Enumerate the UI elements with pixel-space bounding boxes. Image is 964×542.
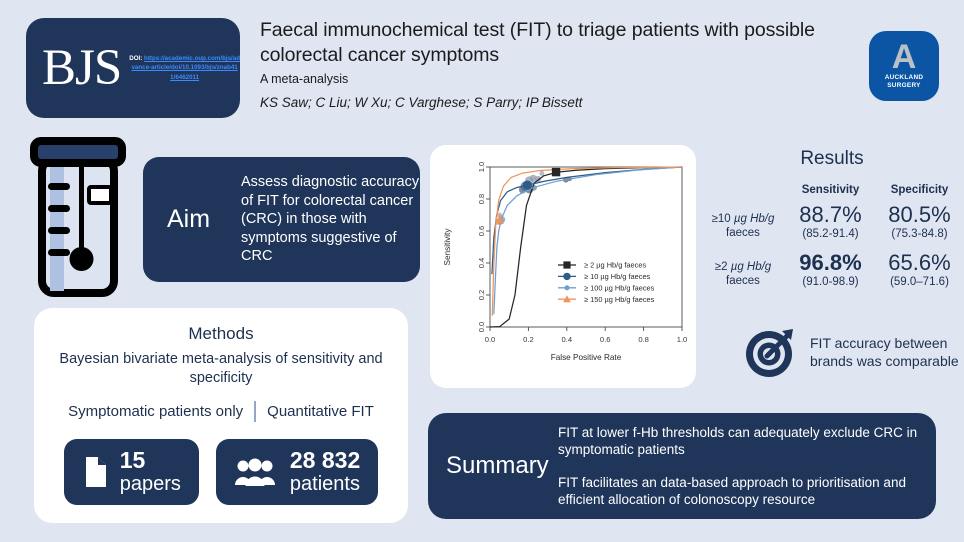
- svg-text:0.0: 0.0: [477, 322, 486, 333]
- poster-root: BJS DOI: https://academic.oup.com/bjs/ad…: [0, 0, 964, 542]
- summary-card: Summary FIT at lower f-Hb thresholds can…: [428, 413, 936, 519]
- auckland-line2: SURGERY: [885, 82, 924, 90]
- svg-text:≥ 10 µg Hb/g faeces: ≥ 10 µg Hb/g faeces: [584, 272, 651, 281]
- svg-text:≥ 150 µg Hb/g faeces: ≥ 150 µg Hb/g faeces: [584, 295, 655, 304]
- results-col-sensitivity: Sensitivity: [786, 183, 875, 202]
- people-icon: [234, 458, 276, 486]
- bjs-wordmark: BJS: [42, 43, 121, 94]
- results-cell-sens-10: 88.7% (85.2-91.4): [786, 202, 875, 250]
- doi-block: DOI: https://academic.oup.com/bjs/advanc…: [129, 54, 240, 82]
- results-cell-sens-2: 96.8% (91.0-98.9): [786, 250, 875, 298]
- row0-spec-ci: (75.3-84.8): [876, 227, 963, 241]
- methods-description: Bayesian bivariate meta-analysis of sens…: [34, 350, 408, 388]
- auckland-logo-text: AUCKLAND SURGERY: [885, 74, 924, 90]
- row0-sens-ci: (85.2-91.4): [787, 227, 874, 241]
- papers-count: 15: [120, 448, 146, 473]
- title-block: Faecal immunochemical test (FIT) to tria…: [260, 18, 850, 110]
- results-row-label-2: ≥2 µg Hb/g faeces: [700, 250, 786, 298]
- row0-unit: µg Hb/g: [734, 213, 775, 225]
- auckland-surgery-logo: A AUCKLAND SURGERY: [869, 31, 939, 101]
- row1-prefix: ≥2: [715, 261, 731, 273]
- paper-authors: KS Saw; C Liu; W Xu; C Varghese; S Parry…: [260, 95, 850, 110]
- aim-card: Aim Assess diagnostic accuracy of FIT fo…: [143, 157, 420, 282]
- svg-text:1.0: 1.0: [677, 335, 688, 344]
- methods-tag-population: Symptomatic patients only: [68, 403, 243, 420]
- row1-spec-ci: (59.0–71.6): [876, 275, 963, 289]
- svg-text:0.0: 0.0: [485, 335, 496, 344]
- paper-subtitle: A meta-analysis: [260, 72, 850, 86]
- results-section: Results Sensitivity Specificity ≥10 µg H…: [700, 148, 964, 298]
- row1-sens-ci: (91.0-98.9): [787, 275, 874, 289]
- summary-point-2: FIT facilitates an data-based approach t…: [558, 474, 936, 509]
- methods-tag-test: Quantitative FIT: [267, 403, 374, 420]
- svg-text:0.8: 0.8: [477, 194, 486, 205]
- aim-text: Assess diagnostic accuracy of FIT for co…: [241, 173, 420, 266]
- svg-text:0.2: 0.2: [477, 290, 486, 301]
- roc-chart-card: 0.00.20.40.60.81.00.00.20.40.60.81.0Fals…: [430, 145, 696, 388]
- results-cell-spec-2: 65.6% (59.0–71.6): [875, 250, 964, 298]
- svg-text:Sensitivity: Sensitivity: [443, 228, 452, 266]
- svg-text:1.0: 1.0: [477, 162, 486, 173]
- row1-unit: µg Hb/g: [731, 261, 772, 273]
- summary-spacer: [558, 459, 936, 474]
- aim-label: Aim: [167, 205, 241, 234]
- patients-label: patients: [290, 473, 360, 496]
- results-corner-cell: [700, 183, 786, 202]
- results-title: Results: [700, 148, 964, 170]
- svg-text:0.4: 0.4: [562, 335, 573, 344]
- stat-chip-papers-text: 15 papers: [120, 448, 181, 496]
- results-cell-spec-10: 80.5% (75.3-84.8): [875, 202, 964, 250]
- svg-text:≥ 2 µg Hb/g faeces: ≥ 2 µg Hb/g faeces: [584, 261, 646, 270]
- patients-count: 28 832: [290, 448, 360, 473]
- row0-suffix: faeces: [726, 227, 760, 239]
- doi-link[interactable]: https://academic.oup.com/bjs/advance-art…: [131, 55, 240, 81]
- paper-title: Faecal immunochemical test (FIT) to tria…: [260, 18, 850, 68]
- svg-text:0.8: 0.8: [638, 335, 649, 344]
- svg-text:False Positive Rate: False Positive Rate: [551, 353, 622, 362]
- specimen-jar-icon: [30, 137, 134, 302]
- papers-label: papers: [120, 473, 181, 496]
- row1-spec-value: 65.6%: [876, 251, 963, 275]
- row1-suffix: faeces: [726, 275, 760, 287]
- poster-header: BJS DOI: https://academic.oup.com/bjs/ad…: [0, 0, 964, 128]
- table-row: ≥10 µg Hb/g faeces 88.7% (85.2-91.4) 80.…: [700, 202, 964, 250]
- methods-tag-divider: [254, 401, 256, 422]
- row0-sens-value: 88.7%: [787, 203, 874, 227]
- aim-section: Aim Assess diagnostic accuracy of FIT fo…: [30, 137, 420, 302]
- svg-text:0.2: 0.2: [523, 335, 534, 344]
- target-icon: [744, 325, 798, 379]
- summary-point-1: FIT at lower f-Hb thresholds can adequat…: [558, 424, 936, 459]
- methods-title: Methods: [34, 324, 408, 344]
- methods-card: Methods Bayesian bivariate meta-analysis…: [34, 308, 408, 523]
- methods-tags: Symptomatic patients only Quantitative F…: [34, 401, 408, 422]
- results-row-label-10: ≥10 µg Hb/g faeces: [700, 202, 786, 250]
- journal-logo-card: BJS DOI: https://academic.oup.com/bjs/ad…: [26, 18, 240, 118]
- accuracy-note-text: FIT accuracy between brands was comparab…: [810, 334, 964, 370]
- results-col-specificity: Specificity: [875, 183, 964, 202]
- svg-text:0.6: 0.6: [477, 226, 486, 237]
- auckland-a-glyph: A: [892, 42, 917, 72]
- row1-sens-value: 96.8%: [787, 251, 874, 275]
- row0-prefix: ≥10: [712, 213, 734, 225]
- results-header-row: Sensitivity Specificity: [700, 183, 964, 202]
- stat-chip-patients: 28 832 patients: [216, 439, 378, 505]
- svg-text:0.6: 0.6: [600, 335, 611, 344]
- document-icon: [82, 457, 106, 487]
- svg-text:0.4: 0.4: [477, 258, 486, 269]
- summary-label: Summary: [446, 452, 558, 480]
- stat-chip-patients-text: 28 832 patients: [290, 448, 360, 496]
- row0-spec-value: 80.5%: [876, 203, 963, 227]
- table-row: ≥2 µg Hb/g faeces 96.8% (91.0-98.9) 65.6…: [700, 250, 964, 298]
- methods-stat-chips: 15 papers 28 832 patients: [34, 439, 408, 505]
- roc-curve-chart: 0.00.20.40.60.81.00.00.20.40.60.81.0Fals…: [430, 145, 696, 388]
- accuracy-note-block: FIT accuracy between brands was comparab…: [744, 325, 964, 379]
- results-table: Sensitivity Specificity ≥10 µg Hb/g faec…: [700, 183, 964, 298]
- svg-text:≥ 100 µg Hb/g faeces: ≥ 100 µg Hb/g faeces: [584, 283, 655, 292]
- summary-body: FIT at lower f-Hb thresholds can adequat…: [558, 424, 936, 509]
- doi-label: DOI:: [129, 55, 142, 62]
- stat-chip-papers: 15 papers: [64, 439, 199, 505]
- auckland-line1: AUCKLAND: [885, 74, 924, 82]
